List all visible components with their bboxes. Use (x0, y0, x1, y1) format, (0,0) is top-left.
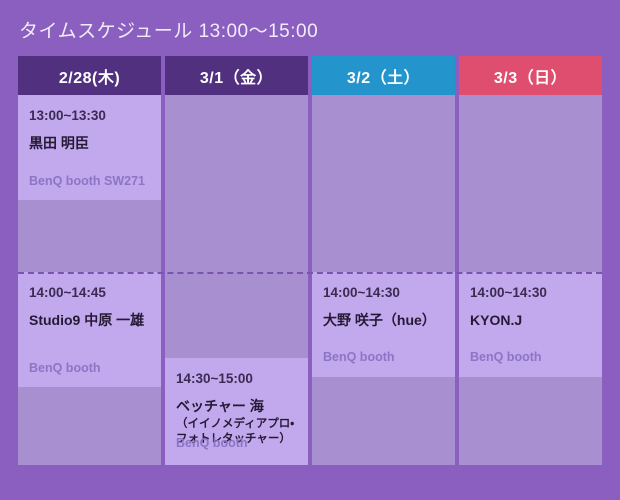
session-block[interactable]: 14:00~14:30KYON.JBenQ booth (459, 272, 602, 377)
session-venue: BenQ booth (29, 360, 153, 376)
session-speaker-name: Studio9 中原 一雄 (29, 311, 150, 329)
schedule-page: タイムスケジュール 13:00〜15:00 2/28(木)13:00~13:30… (0, 0, 620, 500)
day-column-body: 14:00~14:30KYON.JBenQ booth (459, 95, 602, 465)
time-divider-line (18, 272, 602, 274)
session-time: 14:30~15:00 (176, 370, 297, 388)
session-time: 13:00~13:30 (29, 107, 150, 125)
session-speaker-name: 大野 咲子（hue） (323, 311, 444, 329)
session-time: 14:00~14:45 (29, 284, 150, 302)
schedule-table: 2/28(木)13:00~13:30黒田 明臣BenQ booth SW2711… (18, 56, 602, 465)
session-speaker-name: KYON.J (470, 311, 591, 329)
session-block[interactable]: 13:00~13:30黒田 明臣BenQ booth SW271 (18, 95, 161, 200)
day-column-body: 14:00~14:30大野 咲子（hue）BenQ booth (312, 95, 455, 465)
day-column-body: 14:30~15:00ベッチャー 海（イイノメディアプロ・フォトレタッチャー）B… (165, 95, 308, 465)
session-speaker-name: 黒田 明臣 (29, 134, 150, 152)
day-column: 3/1（金）14:30~15:00ベッチャー 海（イイノメディアプロ・フォトレタ… (165, 56, 308, 465)
day-header[interactable]: 3/3（日） (459, 56, 602, 95)
session-venue: BenQ booth (470, 349, 594, 365)
session-block[interactable]: 14:30~15:00ベッチャー 海（イイノメディアプロ・フォトレタッチャー）B… (165, 358, 308, 465)
session-block[interactable]: 14:00~14:30大野 咲子（hue）BenQ booth (312, 272, 455, 377)
day-header[interactable]: 2/28(木) (18, 56, 161, 95)
day-header[interactable]: 3/2（土） (312, 56, 455, 95)
session-speaker-name: ベッチャー 海 (176, 397, 297, 415)
day-column: 3/2（土）14:00~14:30大野 咲子（hue）BenQ booth (312, 56, 455, 465)
session-time: 14:00~14:30 (470, 284, 591, 302)
session-time: 14:00~14:30 (323, 284, 444, 302)
page-title: タイムスケジュール 13:00〜15:00 (19, 16, 318, 43)
session-block[interactable]: 14:00~14:45Studio9 中原 一雄BenQ booth (18, 272, 161, 387)
day-column: 3/3（日）14:00~14:30KYON.JBenQ booth (459, 56, 602, 465)
day-column-body: 13:00~13:30黒田 明臣BenQ booth SW27114:00~14… (18, 95, 161, 465)
day-column: 2/28(木)13:00~13:30黒田 明臣BenQ booth SW2711… (18, 56, 161, 465)
session-venue: BenQ booth SW271 (29, 173, 153, 189)
day-header[interactable]: 3/1（金） (165, 56, 308, 95)
session-venue: BenQ booth (176, 435, 300, 451)
session-venue: BenQ booth (323, 349, 447, 365)
